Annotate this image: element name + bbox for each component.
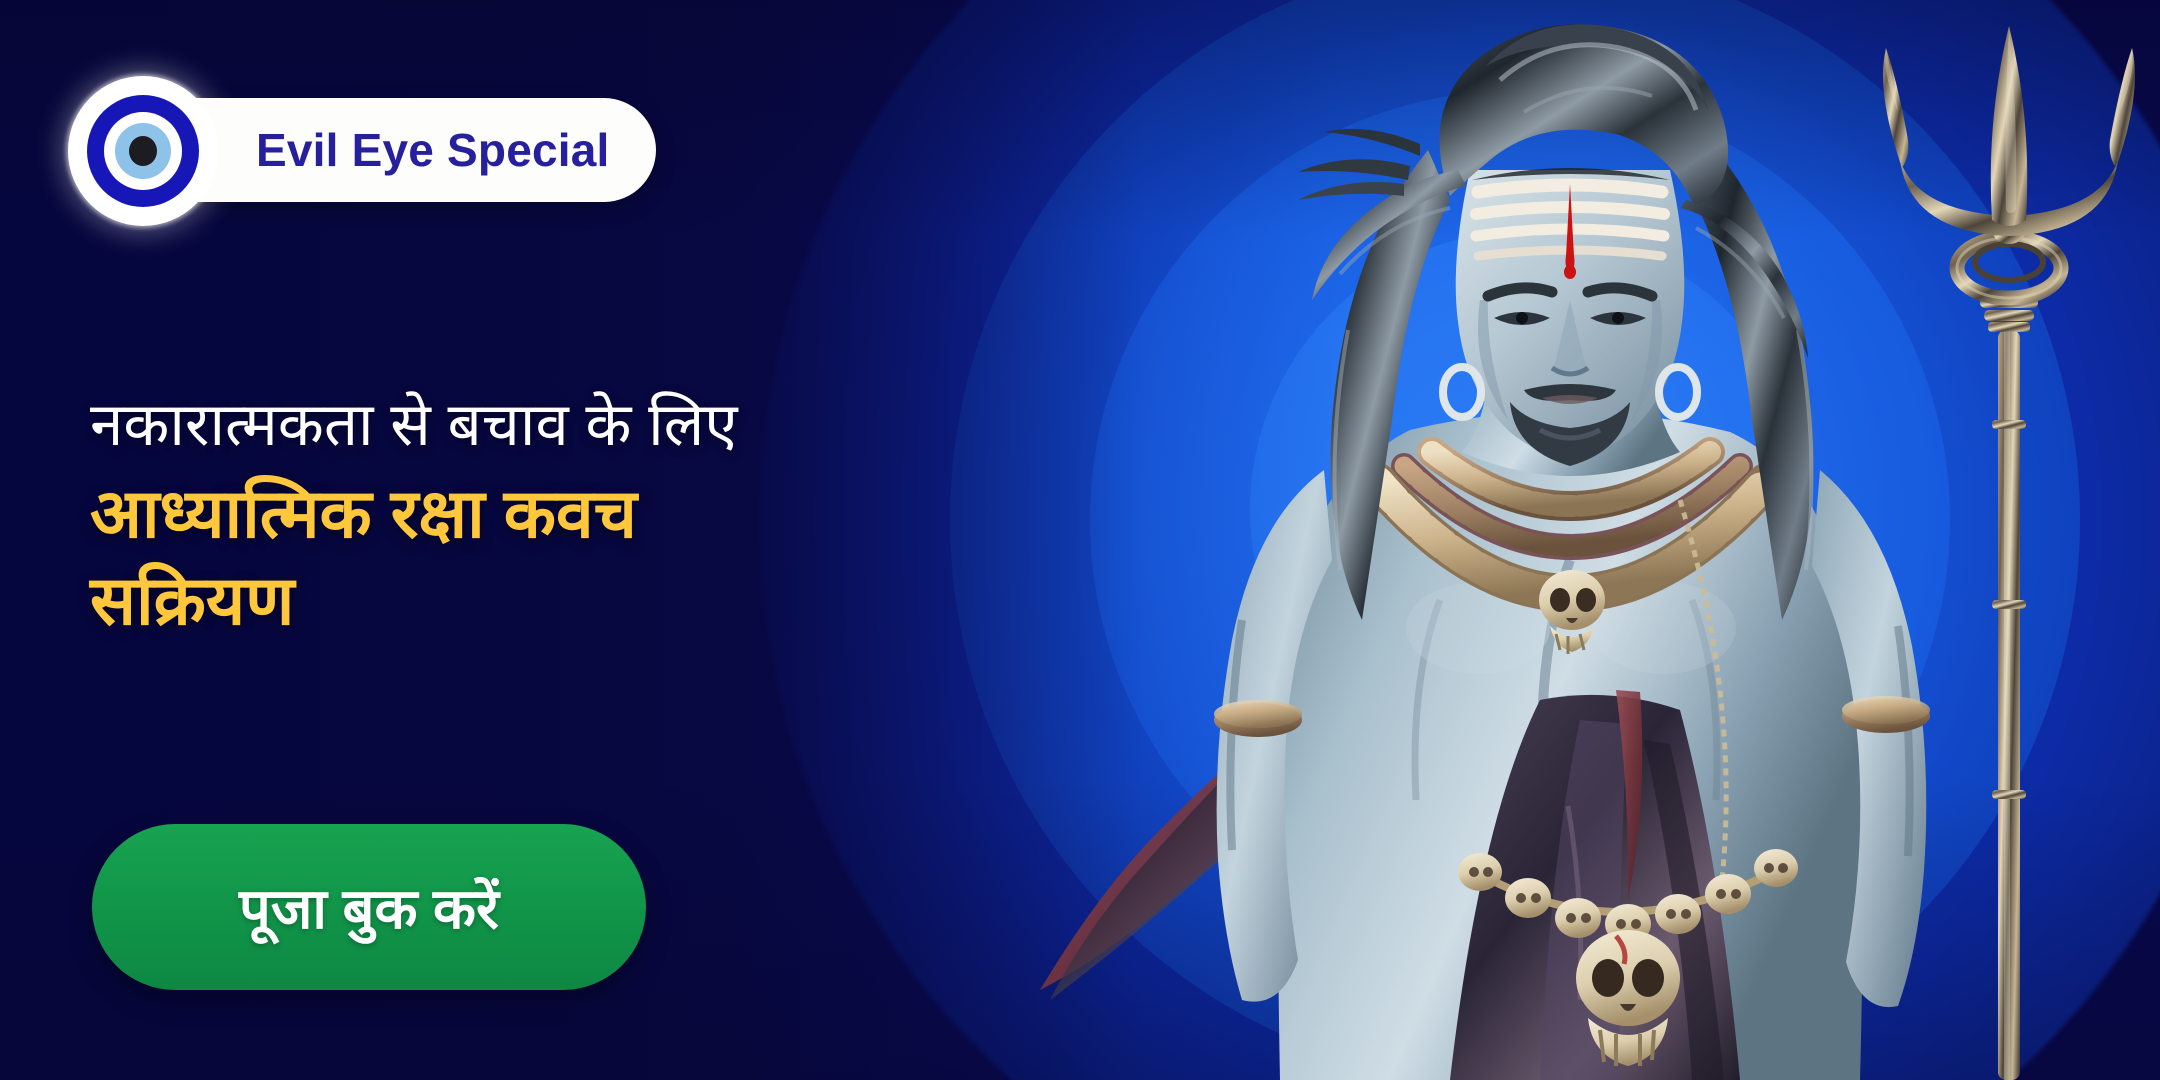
evil-eye-iris xyxy=(115,123,171,179)
headline-line-3: सक्रियण xyxy=(90,560,1110,643)
headline-line-2: आध्यात्मिक रक्षा कवच xyxy=(90,473,1110,556)
evil-eye-blue-ring xyxy=(87,95,199,207)
evil-eye-pupil xyxy=(129,136,157,166)
headline-line-1: नकारात्मकता से बचाव के लिए xyxy=(90,388,1110,461)
badge-label: Evil Eye Special xyxy=(256,123,610,177)
evil-eye-icon xyxy=(68,76,218,226)
book-puja-button-label: पूजा बुक करें xyxy=(239,869,499,945)
evil-eye-white-ring xyxy=(104,112,182,190)
promo-banner: Evil Eye Special नकारात्मकता से बचाव के … xyxy=(0,0,2160,1080)
headline-block: नकारात्मकता से बचाव के लिए आध्यात्मिक रक… xyxy=(90,388,1110,643)
book-puja-button[interactable]: पूजा बुक करें xyxy=(92,824,646,990)
